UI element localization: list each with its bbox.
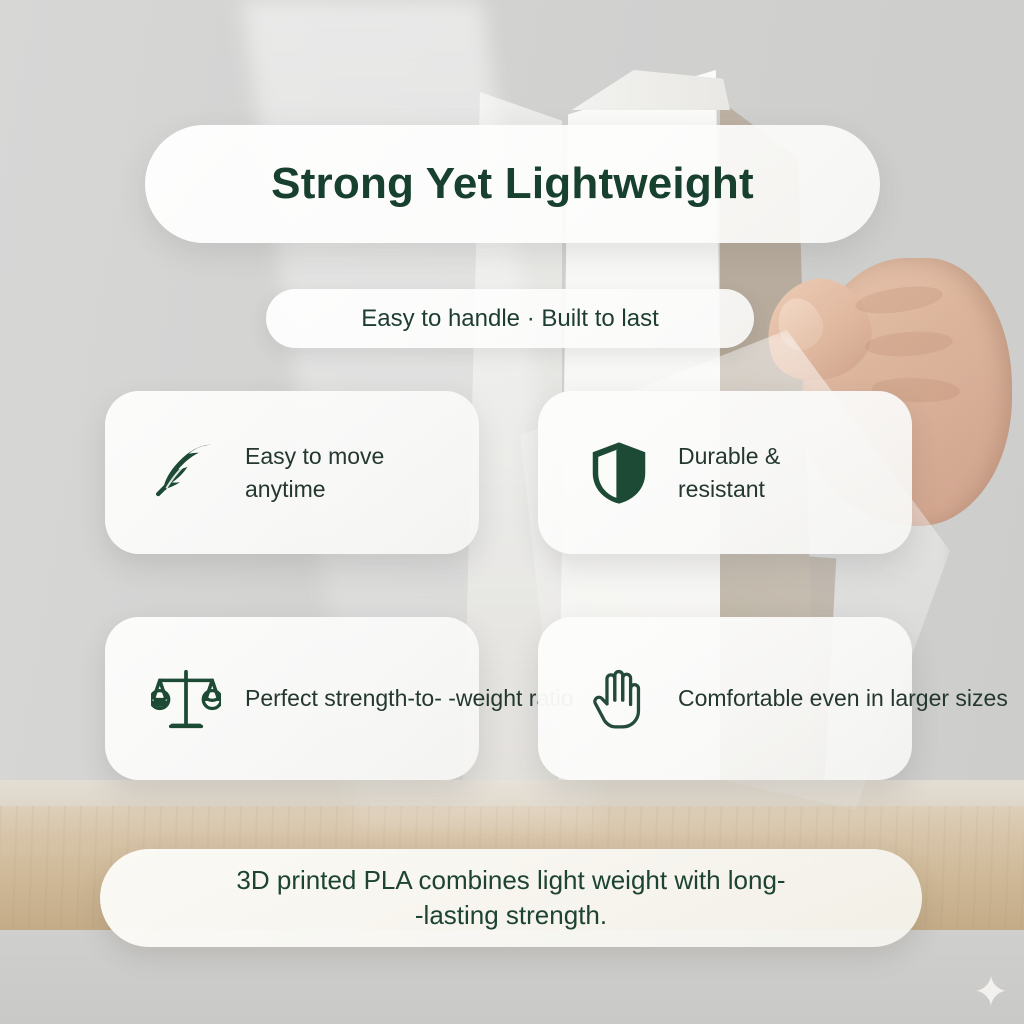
infographic-stage: Strong Yet Lightweight Easy to handle · … xyxy=(0,0,1024,1024)
overlay-ui: Strong Yet Lightweight Easy to handle · … xyxy=(0,0,1024,1024)
four-point-sparkle-icon xyxy=(975,975,1007,1007)
feature-card-comfortable[interactable]: Comfortable even in larger sizes xyxy=(538,617,912,780)
feature-card-durable[interactable]: Durable & resistant xyxy=(538,391,912,554)
feather-icon xyxy=(149,436,223,510)
subtitle-pill: Easy to handle · Built to last xyxy=(266,289,754,348)
shield-icon xyxy=(582,436,656,510)
footer-banner-text: 3D printed PLA combines light weight wit… xyxy=(236,863,785,933)
feature-card-label: Perfect strength-to- -weight ratio xyxy=(245,682,574,715)
feature-card-label: Durable & resistant xyxy=(678,440,780,505)
page-subtitle: Easy to handle · Built to last xyxy=(361,305,659,333)
feature-card-label: Comfortable even in larger sizes xyxy=(678,682,1008,715)
feature-card-easy-to-move[interactable]: Easy to move anytime xyxy=(105,391,479,554)
balance-scale-icon xyxy=(149,662,223,736)
footer-banner: 3D printed PLA combines light weight wit… xyxy=(100,849,922,947)
open-hand-icon xyxy=(582,662,656,736)
feature-card-label: Easy to move anytime xyxy=(245,440,384,505)
title-pill: Strong Yet Lightweight xyxy=(145,125,880,243)
page-title: Strong Yet Lightweight xyxy=(271,159,754,209)
feature-card-strength-to-weight[interactable]: Perfect strength-to- -weight ratio xyxy=(105,617,479,780)
